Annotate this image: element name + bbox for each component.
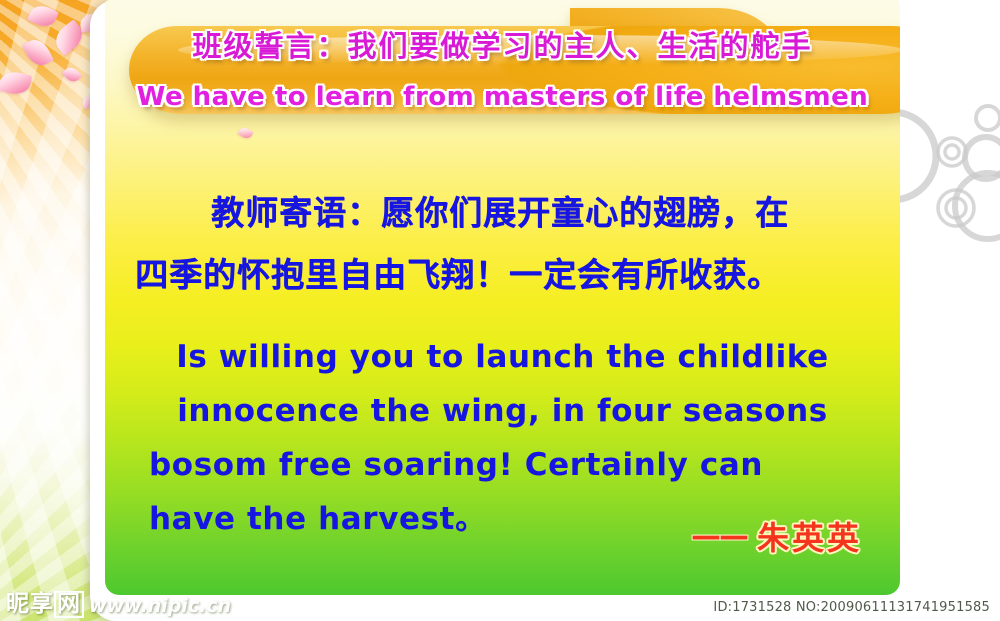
- body-english-line-2: innocence the wing, in four seasons: [129, 384, 876, 438]
- signature: —— 朱英英: [691, 513, 862, 559]
- poster-canvas: 班级誓言：我们要做学习的主人、生活的舵手 We have to learn fr…: [0, 0, 1000, 621]
- content-card: 班级誓言：我们要做学习的主人、生活的舵手 We have to learn fr…: [90, 0, 1000, 621]
- flower-petal-icon: [237, 125, 253, 141]
- watermark-logo: 昵享网: [6, 584, 84, 618]
- banner-title-english: We have to learn from masters of life he…: [105, 84, 900, 110]
- body-text-chinese: 教师寄语：愿你们展开童心的翅膀，在 四季的怀抱里自由飞翔！一定会有所收获。: [135, 182, 878, 306]
- watermark-logo-char2: 享: [30, 591, 54, 617]
- body-chinese-line-2: 四季的怀抱里自由飞翔！一定会有所收获。: [135, 244, 878, 306]
- body-english-line-3: bosom free soaring! Certainly can: [129, 438, 876, 492]
- watermark-url: www.nipic.cn: [89, 595, 231, 618]
- body-english-line-1: Is willing you to launch the childlike: [129, 330, 876, 384]
- signature-dash: ——: [691, 519, 747, 554]
- signature-name: 朱英英: [757, 513, 862, 559]
- watermark-id: ID:1731528 NO:20090611131741951585: [709, 599, 994, 616]
- banner-title-chinese: 班级誓言：我们要做学习的主人、生活的舵手: [105, 32, 900, 61]
- watermark-logo-char3: 网: [54, 591, 84, 618]
- body-chinese-line-1: 教师寄语：愿你们展开童心的翅膀，在: [135, 182, 878, 244]
- message-panel: 班级誓言：我们要做学习的主人、生活的舵手 We have to learn fr…: [105, 0, 900, 595]
- watermark-brand: 昵享网 www.nipic.cn: [6, 584, 231, 618]
- watermark-logo-char1: 昵: [6, 591, 30, 617]
